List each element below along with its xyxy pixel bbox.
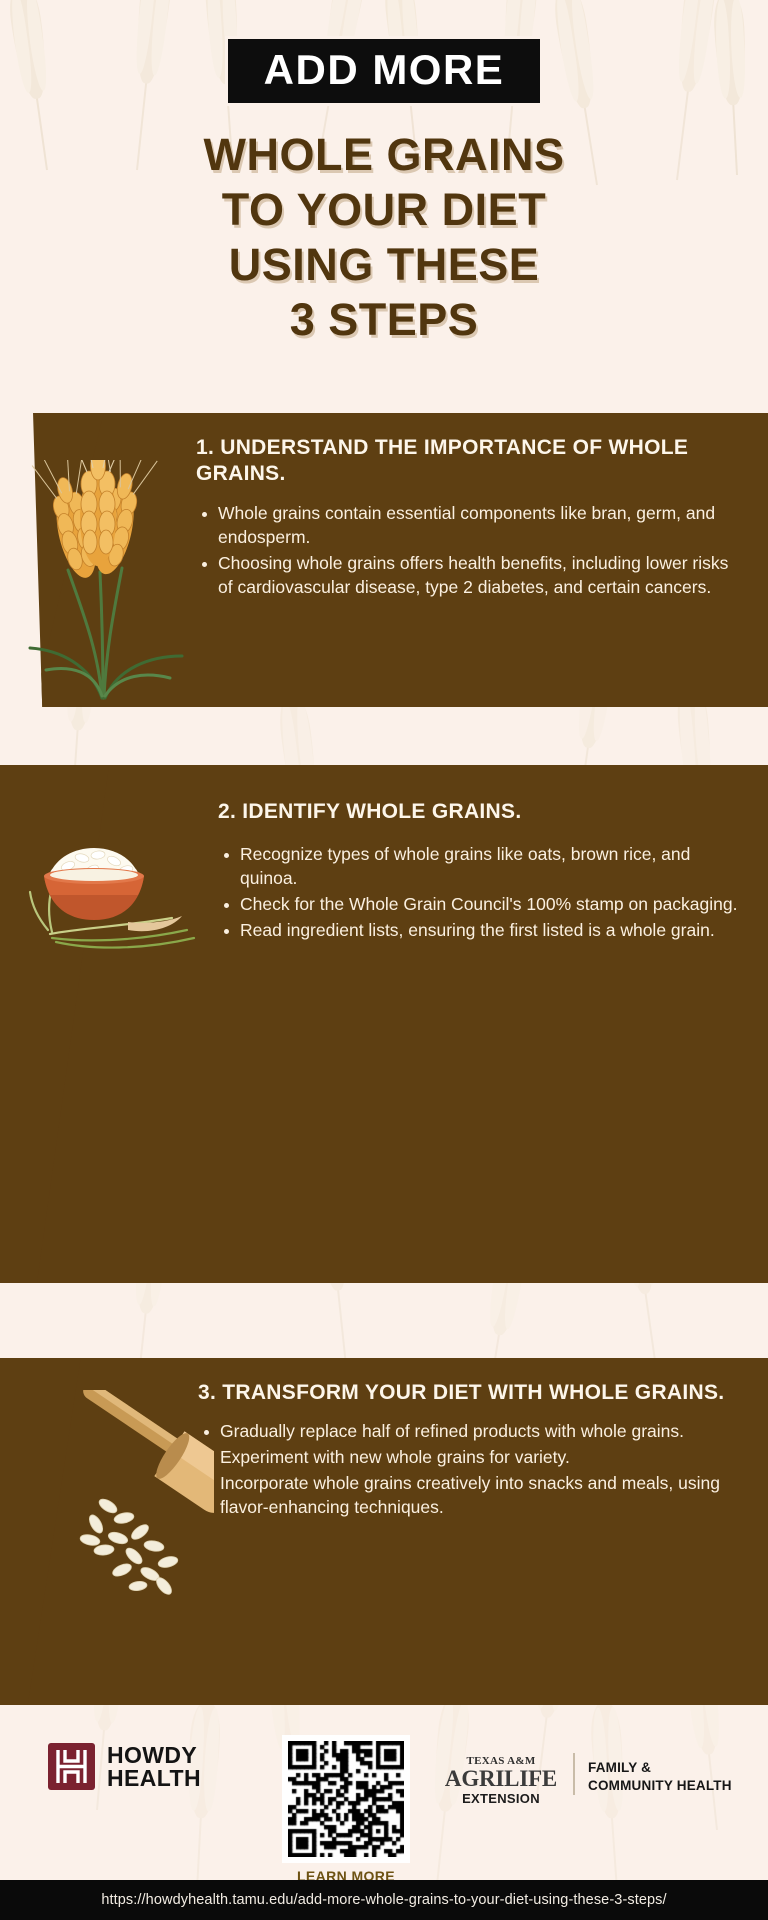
list-item: Gradually replace half of refined produc… xyxy=(198,1420,742,1444)
rice-bowl-illustration xyxy=(22,838,212,968)
agrilife-line-2: AGRILIFE xyxy=(437,1767,565,1790)
qr-code[interactable] xyxy=(282,1735,410,1863)
howdy-logo-line-2: HEALTH xyxy=(107,1767,201,1790)
fch-line-2: COMMUNITY HEALTH xyxy=(588,1777,732,1795)
qr-code-canvas xyxy=(288,1741,404,1857)
agrilife-line-3: EXTENSION xyxy=(437,1791,565,1806)
step-1-title: 1. UNDERSTAND THE IMPORTANCE OF WHOLE GR… xyxy=(196,435,742,488)
step-1-bullets: Whole grains contain essential component… xyxy=(196,502,742,600)
list-item: Whole grains contain essential component… xyxy=(196,502,742,550)
wheat-stalks-illustration xyxy=(10,460,195,700)
step-3-bullets: Gradually replace half of refined produc… xyxy=(198,1420,742,1520)
step-2-bullets: Recognize types of whole grains like oat… xyxy=(218,843,742,943)
title-line-4: 3 STEPS xyxy=(36,293,732,348)
url-bar: https://howdyhealth.tamu.edu/add-more-wh… xyxy=(0,1880,768,1920)
title-line-3: USING THESE xyxy=(36,238,732,293)
step-2-title: 2. IDENTIFY WHOLE GRAINS. xyxy=(218,799,742,825)
header: ADD MORE WHOLE GRAINS TO YOUR DIET USING… xyxy=(0,0,768,348)
list-item: Read ingredient lists, ensuring the firs… xyxy=(218,919,742,943)
wheat-divider-strip-2 xyxy=(0,1283,768,1358)
footer: HOWDY HEALTH LEARN MORE TEXAS A&M AGRILI… xyxy=(0,1705,768,1880)
wheat-divider-strip-1 xyxy=(0,707,768,765)
footer-divider xyxy=(573,1753,575,1795)
title-line-1: WHOLE GRAINS xyxy=(36,128,732,183)
grain-scoop-illustration xyxy=(4,1390,214,1605)
list-item: Incorporate whole grains creatively into… xyxy=(198,1472,742,1520)
page-title: WHOLE GRAINS TO YOUR DIET USING THESE 3 … xyxy=(0,128,768,348)
texas-am-agrilife-extension-logo: TEXAS A&M AGRILIFE EXTENSION xyxy=(437,1755,565,1806)
infographic-page: ADD MORE WHOLE GRAINS TO YOUR DIET USING… xyxy=(0,0,768,1920)
kicker-badge: ADD MORE xyxy=(225,36,544,106)
list-item: Recognize types of whole grains like oat… xyxy=(218,843,742,891)
url-text: https://howdyhealth.tamu.edu/add-more-wh… xyxy=(101,1892,666,1908)
list-item: Choosing whole grains offers health bene… xyxy=(196,552,742,600)
fch-line-1: FAMILY & xyxy=(588,1759,732,1777)
list-item: Experiment with new whole grains for var… xyxy=(198,1446,742,1470)
list-item: Check for the Whole Grain Council's 100%… xyxy=(218,893,742,917)
title-line-2: TO YOUR DIET xyxy=(36,183,732,238)
step-3-title: 3. TRANSFORM YOUR DIET WITH WHOLE GRAINS… xyxy=(198,1380,742,1406)
howdy-health-mark-icon xyxy=(48,1743,95,1790)
qr-code-block[interactable]: LEARN MORE xyxy=(282,1735,410,1884)
howdy-logo-line-1: HOWDY xyxy=(107,1744,201,1767)
family-community-health-label: FAMILY & COMMUNITY HEALTH xyxy=(588,1759,732,1795)
howdy-health-logo[interactable]: HOWDY HEALTH xyxy=(48,1743,201,1790)
